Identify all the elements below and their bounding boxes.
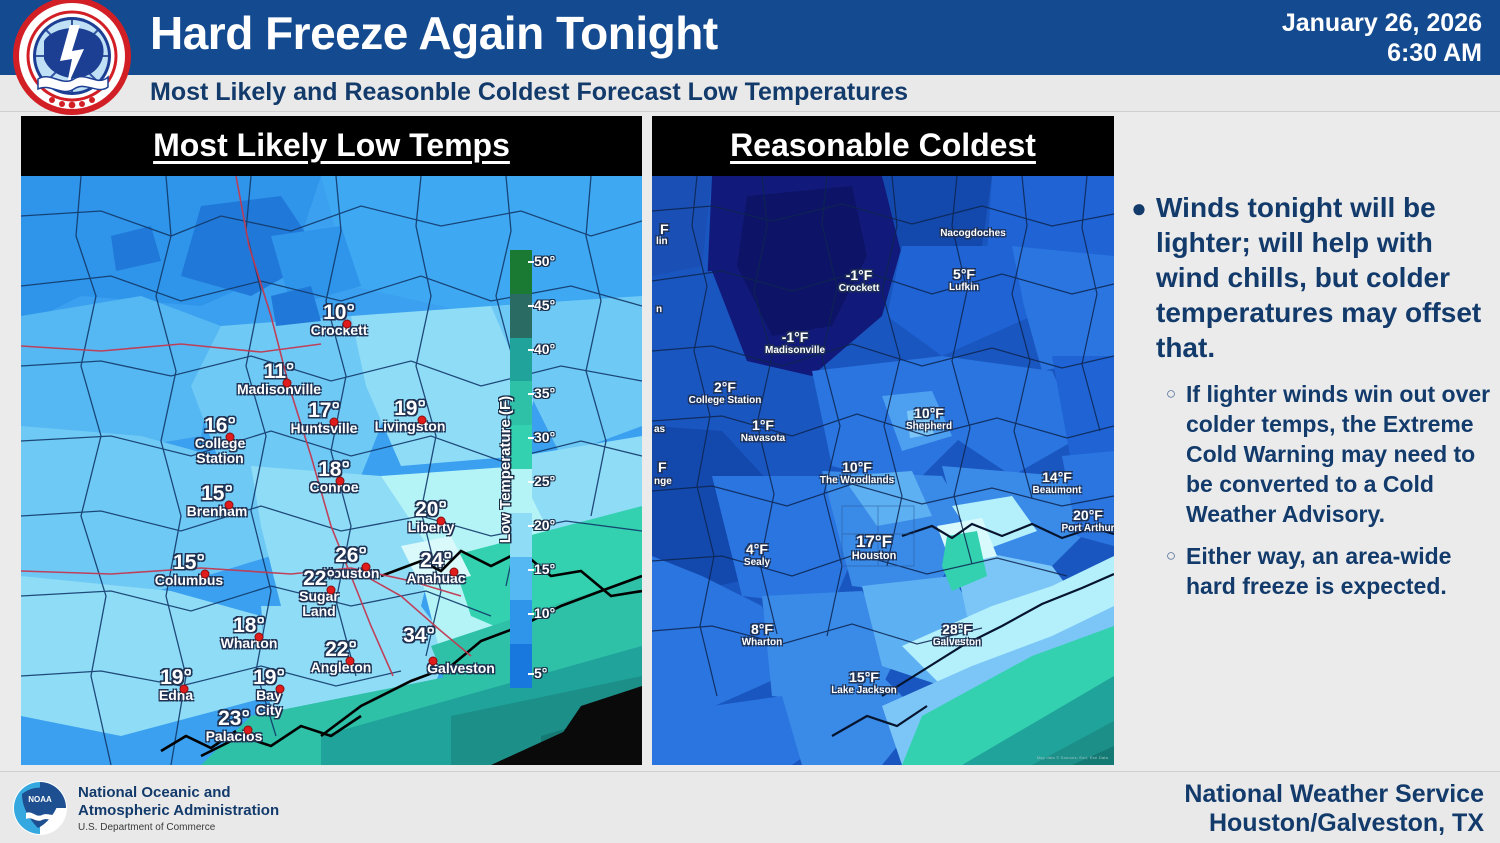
colorbar-tick: 10° xyxy=(534,605,555,621)
city-marker-dot xyxy=(450,568,459,577)
city-marker-dot xyxy=(336,477,345,486)
city-marker-dot xyxy=(255,633,264,642)
map-right-canvas[interactable]: Nacogdoches -1°FCrockett 5°FLufkin -1°FM… xyxy=(652,176,1114,765)
colorbar-tick: 50° xyxy=(534,253,555,269)
colorbar-tick: 30° xyxy=(534,429,555,445)
page-title: Hard Freeze Again Tonight xyxy=(150,6,718,60)
nws-office-line-2: Houston/Galveston, TX xyxy=(1184,809,1484,838)
colorbar-tick: 15° xyxy=(534,561,555,577)
sub-bullet-marker-icon: ○ xyxy=(1156,379,1186,529)
city-marker-dot xyxy=(276,685,285,694)
city-marker-dot xyxy=(283,379,292,388)
city-marker-dot xyxy=(343,320,352,329)
bullet-item: ● Winds tonight will be lighter; will he… xyxy=(1122,190,1494,365)
city-marker-dot xyxy=(362,563,371,572)
map-left-title: Most Likely Low Temps xyxy=(21,127,642,164)
city-marker-dot xyxy=(330,418,339,427)
colorbar-tick: 25° xyxy=(534,473,555,489)
sub-bullet-text: Either way, an area-wide hard freeze is … xyxy=(1186,541,1494,601)
page-subtitle: Most Likely and Reasonble Coldest Foreca… xyxy=(150,78,908,107)
sub-bullet-item: ○ Either way, an area-wide hard freeze i… xyxy=(1122,541,1494,601)
sub-bullet-text: If lighter winds win out over colder tem… xyxy=(1186,379,1494,529)
header-datetime: January 26, 2026 6:30 AM xyxy=(1282,8,1482,68)
bullet-text: Winds tonight will be lighter; will help… xyxy=(1156,190,1494,365)
nws-office-text: National Weather Service Houston/Galvest… xyxy=(1184,780,1484,838)
notes-panel: ● Winds tonight will be lighter; will he… xyxy=(1122,190,1494,613)
colorbar-tick: 40° xyxy=(534,341,555,357)
map-right-title: Reasonable Coldest xyxy=(652,127,1114,164)
city-marker-dot xyxy=(437,517,446,526)
city-marker-dot xyxy=(327,586,336,595)
noaa-line-3: U.S. Department of Commerce xyxy=(78,820,279,836)
colorbar-axis-label: Low Temperature (F) xyxy=(495,250,517,688)
colorbar-tick: 20° xyxy=(534,517,555,533)
map-attribution: Map data © Sources: Esri, Esri Data xyxy=(1037,755,1108,760)
noaa-line-2: Atmospheric Administration xyxy=(78,802,279,820)
city-marker-dot xyxy=(180,685,189,694)
noaa-agency-text: National Oceanic and Atmospheric Adminis… xyxy=(78,784,279,836)
city-marker-dot xyxy=(244,726,253,735)
city-marker-dot xyxy=(201,570,210,579)
sub-bullet-marker-icon: ○ xyxy=(1156,541,1186,601)
map-right-titlebar: Reasonable Coldest xyxy=(652,116,1114,176)
nws-office-line-1: National Weather Service xyxy=(1184,780,1484,809)
map-panel-reasonable-coldest[interactable]: Reasonable Coldest xyxy=(652,116,1114,765)
map-left-titlebar: Most Likely Low Temps xyxy=(21,116,642,176)
header-time: 6:30 AM xyxy=(1282,38,1482,68)
colorbar-tick: 35° xyxy=(534,385,555,401)
noaa-logo: NOAA xyxy=(12,780,68,836)
svg-text:NOAA: NOAA xyxy=(28,795,52,804)
bullet-marker-icon: ● xyxy=(1122,190,1156,365)
city-marker-dot xyxy=(429,657,438,666)
header-date: January 26, 2026 xyxy=(1282,8,1482,38)
sub-bullet-item: ○ If lighter winds win out over colder t… xyxy=(1122,379,1494,529)
city-marker-dot xyxy=(225,501,234,510)
city-marker-dot xyxy=(226,433,235,442)
city-marker-dot xyxy=(418,416,427,425)
city-marker-dot xyxy=(346,657,355,666)
colorbar-tick: 45° xyxy=(534,297,555,313)
noaa-line-1: National Oceanic and xyxy=(78,784,279,802)
colorbar-tick: 5° xyxy=(534,665,547,681)
nws-roundel-logo xyxy=(10,0,135,115)
